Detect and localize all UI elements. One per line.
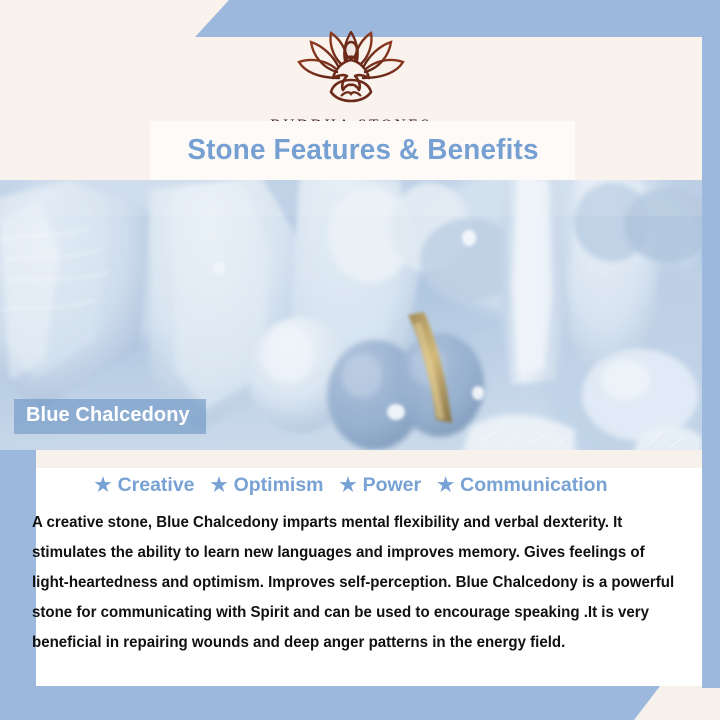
trait-label: Creative (118, 474, 195, 497)
benefits-section: ★ Creative ★ Optimism ★ Power ★ Communic… (36, 450, 702, 686)
bottom-blue-band (0, 686, 660, 720)
page-title-box: Stone Features & Benefits (150, 121, 575, 180)
header: BUDDHA STONES Stone Features & Benefits (0, 0, 702, 180)
left-blue-band (0, 450, 36, 686)
page-title: Stone Features & Benefits (187, 134, 538, 167)
trait-item-optimism: ★ Optimism (211, 474, 324, 497)
star-icon: ★ (211, 476, 228, 495)
description-text: A creative stone, Blue Chalcedony impart… (32, 508, 682, 658)
infographic-page: BUDDHA STONES Stone Features & Benefits (0, 0, 720, 720)
star-icon: ★ (340, 476, 357, 495)
trait-label: Optimism (234, 474, 324, 497)
lotus-meditation-icon (275, 28, 427, 115)
photo-caption: Blue Chalcedony (14, 399, 206, 434)
star-icon: ★ (95, 476, 112, 495)
right-blue-band (702, 37, 720, 688)
trait-label: Communication (460, 474, 607, 497)
star-icon: ★ (437, 476, 454, 495)
trait-item-communication: ★ Communication (437, 474, 607, 497)
trait-item-power: ★ Power (340, 474, 422, 497)
trait-label: Power (363, 474, 422, 497)
trait-list: ★ Creative ★ Optimism ★ Power ★ Communic… (36, 474, 666, 497)
brand-logo: BUDDHA STONES (0, 28, 702, 135)
trait-item-creative: ★ Creative (95, 474, 195, 497)
stone-photo: Blue Chalcedony (0, 180, 702, 450)
